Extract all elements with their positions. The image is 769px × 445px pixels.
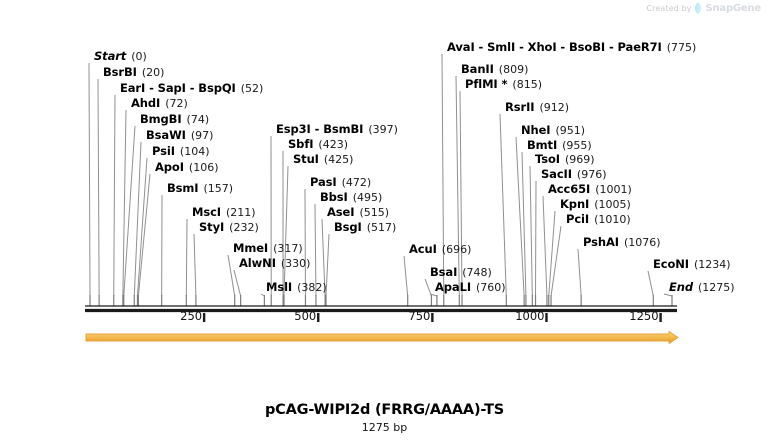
- enzyme-label[interactable]: EcoNI(1234): [653, 258, 731, 271]
- enzyme-name: AcuI: [409, 242, 437, 256]
- map-caption: pCAG-WIPI2d (FRRG/AAAA)-TS 1275 bp: [0, 402, 769, 434]
- enzyme-label[interactable]: BmgBI(74): [140, 113, 209, 126]
- enzyme-position: (72): [165, 97, 188, 110]
- enzyme-name: AseI: [327, 205, 354, 219]
- enzyme-name: StyI: [199, 220, 224, 234]
- enzyme-position: (515): [359, 206, 389, 219]
- enzyme-position: (775): [667, 41, 697, 54]
- enzyme-label[interactable]: KpnI(1005): [560, 198, 631, 211]
- enzyme-position: (1005): [594, 198, 631, 211]
- enzyme-name: Acc65I: [548, 182, 590, 196]
- enzyme-label[interactable]: AcuI(696): [409, 243, 471, 256]
- construct-title: pCAG-WIPI2d (FRRG/AAAA)-TS: [0, 402, 769, 418]
- enzyme-name: AhdI: [131, 96, 160, 110]
- enzyme-label[interactable]: PshAI(1076): [583, 236, 661, 249]
- enzyme-position: (20): [142, 66, 165, 79]
- enzyme-label-stack: Start(0)BsrBI(20)EarI - SapI - BspQI(52)…: [0, 0, 769, 300]
- enzyme-position: (97): [191, 129, 214, 142]
- enzyme-position: (232): [229, 221, 259, 234]
- enzyme-label[interactable]: PasI(472): [310, 176, 371, 189]
- enzyme-position: (106): [189, 161, 219, 174]
- enzyme-position: (1010): [594, 213, 631, 226]
- enzyme-name: NheI: [521, 123, 551, 137]
- enzyme-label[interactable]: MscI(211): [192, 206, 256, 219]
- enzyme-label[interactable]: Acc65I(1001): [548, 183, 632, 196]
- enzyme-name: StuI: [293, 152, 319, 166]
- enzyme-label[interactable]: ApoI(106): [155, 161, 219, 174]
- enzyme-name: BmtI: [527, 138, 557, 152]
- enzyme-label[interactable]: BanII(809): [461, 63, 528, 76]
- enzyme-label[interactable]: Start(0): [94, 50, 147, 63]
- enzyme-label[interactable]: MmeI(317): [233, 242, 303, 255]
- enzyme-name: PflMI *: [465, 77, 507, 91]
- enzyme-name: BsaWI: [146, 128, 186, 142]
- enzyme-name: Esp3I - BsmBI: [276, 122, 363, 136]
- enzyme-name: BsgI: [334, 220, 362, 234]
- enzyme-position: (157): [203, 182, 233, 195]
- ruler-tick-label: 1250: [629, 309, 660, 323]
- enzyme-name: BbsI: [320, 190, 348, 204]
- enzyme-label[interactable]: StuI(425): [293, 153, 353, 166]
- enzyme-label[interactable]: AhdI(72): [131, 97, 188, 110]
- enzyme-label[interactable]: PsiI(104): [152, 145, 210, 158]
- enzyme-position: (472): [342, 176, 372, 189]
- ruler-tick-labels: 25050075010001250: [0, 309, 769, 325]
- enzyme-name: PasI: [310, 175, 337, 189]
- snapgene-restriction-map: Created by SnapGene Start(0)BsrBI(20)Ear…: [0, 0, 769, 445]
- enzyme-position: (955): [562, 139, 592, 152]
- enzyme-position: (0): [131, 50, 147, 63]
- enzyme-label[interactable]: AlwNI(330): [239, 257, 310, 270]
- enzyme-position: (423): [318, 138, 348, 151]
- enzyme-position: (951): [556, 124, 586, 137]
- enzyme-position: (104): [180, 145, 210, 158]
- enzyme-position: (815): [512, 78, 542, 91]
- enzyme-name: PsiI: [152, 144, 175, 158]
- enzyme-label[interactable]: RsrII(912): [505, 101, 569, 114]
- enzyme-position: (317): [273, 242, 303, 255]
- enzyme-label[interactable]: BsmI(157): [167, 182, 233, 195]
- ruler-tick-label: 750: [408, 309, 432, 323]
- enzyme-label[interactable]: SacII(976): [541, 168, 607, 181]
- ruler-tick-label: 1000: [515, 309, 546, 323]
- enzyme-label[interactable]: BbsI(495): [320, 191, 382, 204]
- enzyme-label[interactable]: AseI(515): [327, 206, 389, 219]
- enzyme-position: (912): [539, 101, 569, 114]
- enzyme-position: (52): [241, 82, 264, 95]
- enzyme-position: (1275): [698, 281, 735, 294]
- enzyme-name: BsaI: [430, 265, 457, 279]
- enzyme-label[interactable]: MslI(382): [266, 281, 327, 294]
- enzyme-name: SbfI: [288, 137, 313, 151]
- enzyme-name: MscI: [192, 205, 221, 219]
- enzyme-position: (330): [281, 257, 311, 270]
- enzyme-position: (1234): [694, 258, 731, 271]
- enzyme-position: (809): [499, 63, 529, 76]
- enzyme-label[interactable]: PflMI *(815): [465, 78, 542, 91]
- enzyme-label[interactable]: StyI(232): [199, 221, 259, 234]
- enzyme-label[interactable]: SbfI(423): [288, 138, 348, 151]
- enzyme-name: KpnI: [560, 197, 589, 211]
- enzyme-position: (382): [297, 281, 327, 294]
- enzyme-label[interactable]: ApaLI(760): [435, 281, 506, 294]
- enzyme-label[interactable]: BsgI(517): [334, 221, 396, 234]
- enzyme-name: End: [669, 280, 693, 294]
- construct-length: 1275 bp: [0, 421, 769, 434]
- enzyme-label[interactable]: TsoI(969): [535, 153, 595, 166]
- enzyme-name: PshAI: [583, 235, 619, 249]
- enzyme-label[interactable]: NheI(951): [521, 124, 585, 137]
- enzyme-label[interactable]: End(1275): [669, 281, 735, 294]
- enzyme-position: (760): [476, 281, 506, 294]
- enzyme-position: (748): [462, 266, 492, 279]
- enzyme-name: BsmI: [167, 181, 198, 195]
- enzyme-label[interactable]: BsaWI(97): [146, 129, 213, 142]
- enzyme-name: ApaLI: [435, 280, 471, 294]
- enzyme-position: (969): [565, 153, 595, 166]
- enzyme-name: EcoNI: [653, 257, 689, 271]
- enzyme-label[interactable]: EarI - SapI - BspQI(52): [120, 82, 263, 95]
- enzyme-position: (1076): [624, 236, 661, 249]
- enzyme-name: AlwNI: [239, 256, 276, 270]
- enzyme-position: (696): [442, 243, 472, 256]
- enzyme-name: PciI: [566, 212, 589, 226]
- enzyme-name: AvaI - SmlI - XhoI - BsoBI - PaeR7I: [447, 40, 662, 54]
- enzyme-name: MslI: [266, 280, 292, 294]
- enzyme-name: BmgBI: [140, 112, 182, 126]
- enzyme-label[interactable]: AvaI - SmlI - XhoI - BsoBI - PaeR7I(775): [447, 41, 696, 54]
- enzyme-name: BsrBI: [103, 65, 137, 79]
- enzyme-label[interactable]: BsaI(748): [430, 266, 492, 279]
- enzyme-label[interactable]: Esp3I - BsmBI(397): [276, 123, 398, 136]
- enzyme-position: (425): [324, 153, 354, 166]
- enzyme-label[interactable]: BmtI(955): [527, 139, 592, 152]
- enzyme-name: RsrII: [505, 100, 534, 114]
- enzyme-name: MmeI: [233, 241, 268, 255]
- enzyme-position: (74): [187, 113, 210, 126]
- enzyme-name: Start: [94, 49, 126, 63]
- enzyme-name: SacII: [541, 167, 572, 181]
- enzyme-position: (211): [226, 206, 256, 219]
- enzyme-name: EarI - SapI - BspQI: [120, 81, 236, 95]
- ruler-tick-label: 250: [180, 309, 204, 323]
- enzyme-position: (976): [577, 168, 607, 181]
- enzyme-name: BanII: [461, 62, 494, 76]
- enzyme-label[interactable]: BsrBI(20): [103, 66, 164, 79]
- enzyme-position: (1001): [595, 183, 632, 196]
- enzyme-position: (397): [368, 123, 398, 136]
- enzyme-position: (495): [353, 191, 383, 204]
- enzyme-name: TsoI: [535, 152, 560, 166]
- enzyme-label[interactable]: PciI(1010): [566, 213, 631, 226]
- enzyme-position: (517): [367, 221, 397, 234]
- enzyme-name: ApoI: [155, 160, 184, 174]
- ruler-tick-label: 500: [294, 309, 318, 323]
